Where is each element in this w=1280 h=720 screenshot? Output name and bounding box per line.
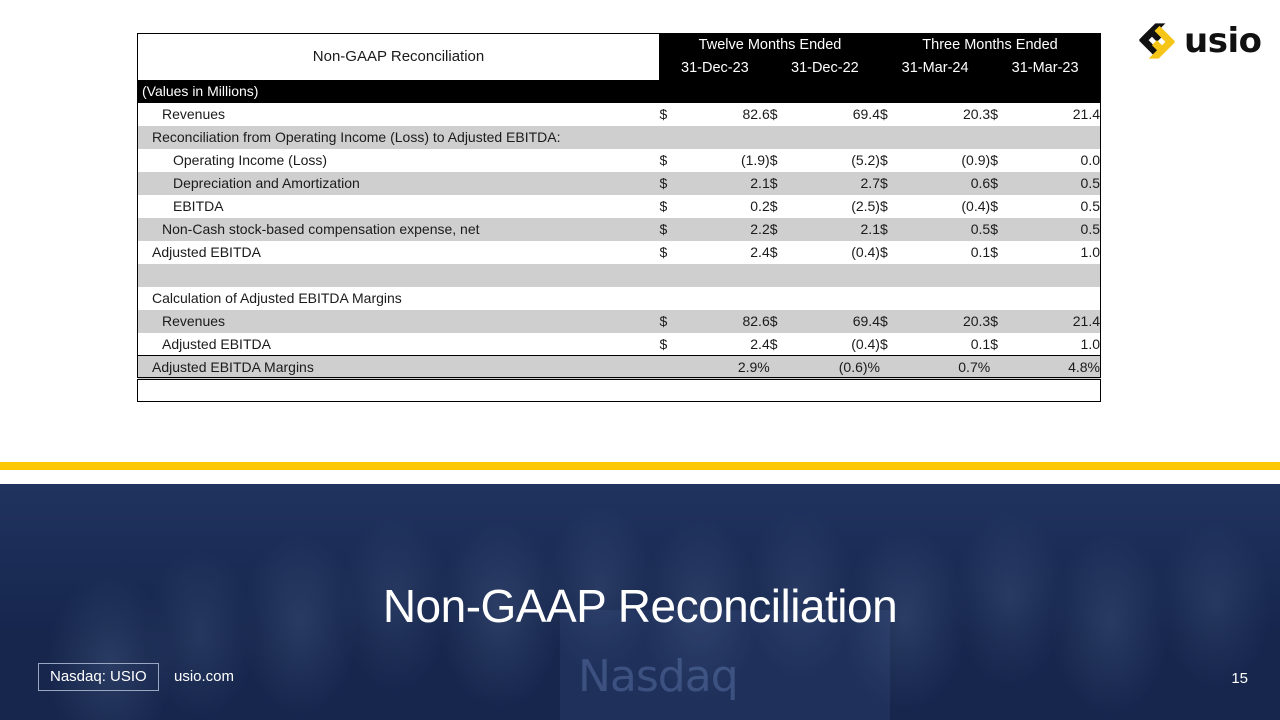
currency-symbol-c1: $: [660, 310, 686, 333]
cell-value-c2: (5.2): [796, 149, 880, 172]
currency-symbol-c4: $: [990, 218, 1016, 241]
currency-symbol-c2: $: [770, 172, 796, 195]
currency-symbol-c3: $: [880, 149, 906, 172]
cell-value-c1: [686, 264, 770, 287]
podium-nasdaq-text: Nasdaq: [578, 651, 738, 702]
cell-value-c1: 2.1: [686, 172, 770, 195]
table-row: Non-Cash stock-based compensation expens…: [138, 218, 1101, 241]
currency-symbol-c4: [990, 126, 1016, 149]
row-label: Reconciliation from Operating Income (Lo…: [138, 126, 660, 149]
currency-symbol-c4: $: [990, 310, 1016, 333]
currency-symbol-c2: $: [770, 218, 796, 241]
cell-value-c3: 0.6: [906, 172, 990, 195]
row-label: [138, 264, 660, 287]
cell-value-c3: 0.5: [906, 218, 990, 241]
cell-value-c2: (0.4): [796, 241, 880, 264]
currency-symbol-c1: $: [660, 103, 686, 126]
cell-value-c3: 0.1: [906, 333, 990, 356]
column-group-header-2: Three Months Ended: [880, 34, 1101, 57]
currency-symbol-c4: [990, 356, 1016, 379]
table-row: Depreciation and Amortization$2.1$2.7$0.…: [138, 172, 1101, 195]
cell-value-c4: 4.8%: [1016, 356, 1100, 379]
table-row: [138, 264, 1101, 287]
cell-value-c3: [906, 126, 990, 149]
cell-value-c4: [1016, 287, 1100, 310]
currency-symbol-c2: $: [770, 149, 796, 172]
currency-symbol-c1: $: [660, 218, 686, 241]
currency-symbol-c3: [880, 264, 906, 287]
cell-value-c3: (0.4): [906, 195, 990, 218]
currency-symbol-c3: $: [880, 172, 906, 195]
period-header-3: 31-Mar-24: [880, 57, 990, 80]
non-gaap-reconciliation-table: Non-GAAP ReconciliationTwelve Months End…: [137, 33, 1101, 402]
cell-value-c4: 0.0: [1016, 149, 1100, 172]
period-header-2: 31-Dec-22: [770, 57, 880, 80]
row-label: Adjusted EBITDA: [138, 241, 660, 264]
currency-symbol-c3: [880, 356, 906, 379]
cell-value-c4: [1016, 264, 1100, 287]
currency-symbol-c2: [770, 264, 796, 287]
cell-value-c1: 2.2: [686, 218, 770, 241]
cell-value-c3: 20.3: [906, 310, 990, 333]
table-header-group-row: Non-GAAP ReconciliationTwelve Months End…: [138, 34, 1101, 57]
currency-symbol-c4: $: [990, 172, 1016, 195]
table-row: Operating Income (Loss)$(1.9)$(5.2)$(0.9…: [138, 149, 1101, 172]
currency-symbol-c2: [770, 356, 796, 379]
currency-symbol-c2: [770, 126, 796, 149]
currency-symbol-c3: $: [880, 310, 906, 333]
currency-symbol-c3: $: [880, 103, 906, 126]
cell-value-c2: 69.4: [796, 310, 880, 333]
cell-value-c4: 0.5: [1016, 195, 1100, 218]
row-label: Adjusted EBITDA: [138, 333, 660, 356]
cell-value-c1: [686, 126, 770, 149]
cell-value-c1: 0.2: [686, 195, 770, 218]
currency-symbol-c3: $: [880, 333, 906, 356]
usio-diamond-mark: [1136, 20, 1178, 62]
cell-value-c1: 82.6: [686, 103, 770, 126]
cell-value-c3: 20.3: [906, 103, 990, 126]
currency-symbol-c4: [990, 264, 1016, 287]
currency-symbol-c1: [660, 264, 686, 287]
yellow-divider-rule: [0, 462, 1280, 470]
currency-symbol-c1: [660, 356, 686, 379]
table-row: Reconciliation from Operating Income (Lo…: [138, 126, 1101, 149]
cell-value-c3: [906, 264, 990, 287]
cell-value-c1: [686, 287, 770, 310]
currency-symbol-c4: $: [990, 195, 1016, 218]
row-label: Depreciation and Amortization: [138, 172, 660, 195]
non-gaap-table-container: Non-GAAP ReconciliationTwelve Months End…: [137, 33, 1101, 402]
units-band-row: (Values in Millions): [138, 80, 1101, 103]
cell-value-c2: 2.7: [796, 172, 880, 195]
currency-symbol-c1: $: [660, 172, 686, 195]
cell-value-c1: 2.9%: [686, 356, 770, 379]
usio-logo: usio: [1136, 20, 1261, 62]
row-label: Operating Income (Loss): [138, 149, 660, 172]
currency-symbol-c2: $: [770, 310, 796, 333]
currency-symbol-c2: $: [770, 103, 796, 126]
table-row: Adjusted EBITDA Margins2.9%(0.6)%0.7%4.8…: [138, 356, 1101, 379]
table-row: Revenues$82.6$69.4$20.3$21.4: [138, 103, 1101, 126]
table-bottom-spacer-row: [138, 379, 1101, 402]
currency-symbol-c3: [880, 287, 906, 310]
cell-value-c1: 2.4: [686, 241, 770, 264]
period-header-1: 31-Dec-23: [660, 57, 770, 80]
cell-value-c4: 0.5: [1016, 172, 1100, 195]
cell-value-c2: (0.4): [796, 333, 880, 356]
cell-value-c2: (2.5): [796, 195, 880, 218]
currency-symbol-c4: [990, 287, 1016, 310]
cell-value-c4: 21.4: [1016, 103, 1100, 126]
currency-symbol-c1: [660, 287, 686, 310]
currency-symbol-c3: [880, 126, 906, 149]
currency-symbol-c1: [660, 126, 686, 149]
cell-value-c2: 2.1: [796, 218, 880, 241]
row-label: Non-Cash stock-based compensation expens…: [138, 218, 660, 241]
row-label: EBITDA: [138, 195, 660, 218]
cell-value-c4: 0.5: [1016, 218, 1100, 241]
row-label: Revenues: [138, 310, 660, 333]
currency-symbol-c1: $: [660, 149, 686, 172]
currency-symbol-c3: $: [880, 195, 906, 218]
slide: usio Non-GAAP ReconciliationTwelve Month…: [0, 0, 1280, 720]
currency-symbol-c2: [770, 287, 796, 310]
cell-value-c1: (1.9): [686, 149, 770, 172]
currency-symbol-c1: $: [660, 241, 686, 264]
nasdaq-ticker-badge: Nasdaq: USIO: [38, 663, 159, 691]
row-label: Revenues: [138, 103, 660, 126]
cell-value-c4: [1016, 126, 1100, 149]
currency-symbol-c4: $: [990, 241, 1016, 264]
cell-value-c3: (0.9): [906, 149, 990, 172]
cell-value-c3: 0.1: [906, 241, 990, 264]
row-label: Adjusted EBITDA Margins: [138, 356, 660, 379]
website-url[interactable]: usio.com: [174, 668, 234, 685]
cell-value-c3: [906, 287, 990, 310]
cell-value-c2: [796, 126, 880, 149]
currency-symbol-c2: $: [770, 333, 796, 356]
units-label: (Values in Millions): [138, 80, 1101, 103]
row-label: Calculation of Adjusted EBITDA Margins: [138, 287, 660, 310]
slide-title: Non-GAAP Reconciliation: [0, 579, 1280, 633]
cell-value-c1: 2.4: [686, 333, 770, 356]
cell-value-c4: 1.0: [1016, 333, 1100, 356]
cell-value-c2: [796, 264, 880, 287]
currency-symbol-c4: $: [990, 103, 1016, 126]
cell-value-c4: 1.0: [1016, 241, 1100, 264]
currency-symbol-c4: $: [990, 333, 1016, 356]
table-row: EBITDA$0.2$(2.5)$(0.4)$0.5: [138, 195, 1101, 218]
currency-symbol-c4: $: [990, 149, 1016, 172]
currency-symbol-c3: $: [880, 241, 906, 264]
table-title: Non-GAAP Reconciliation: [138, 34, 660, 80]
currency-symbol-c2: $: [770, 241, 796, 264]
table-row: Calculation of Adjusted EBITDA Margins: [138, 287, 1101, 310]
logo-wordmark: usio: [1184, 24, 1261, 58]
table-bottom-spacer-cell: [138, 379, 1101, 402]
table-row: Revenues$82.6$69.4$20.3$21.4: [138, 310, 1101, 333]
currency-symbol-c2: $: [770, 195, 796, 218]
cell-value-c1: 82.6: [686, 310, 770, 333]
table-row: Adjusted EBITDA$2.4$(0.4)$0.1$1.0: [138, 333, 1101, 356]
table-row: Adjusted EBITDA$2.4$(0.4)$0.1$1.0: [138, 241, 1101, 264]
cell-value-c3: 0.7%: [906, 356, 990, 379]
currency-symbol-c1: $: [660, 333, 686, 356]
currency-symbol-c1: $: [660, 195, 686, 218]
cell-value-c2: 69.4: [796, 103, 880, 126]
period-header-4: 31-Mar-23: [990, 57, 1100, 80]
cell-value-c4: 21.4: [1016, 310, 1100, 333]
page-number: 15: [1231, 670, 1248, 687]
cell-value-c2: [796, 287, 880, 310]
currency-symbol-c3: $: [880, 218, 906, 241]
column-group-header-1: Twelve Months Ended: [660, 34, 880, 57]
cell-value-c2: (0.6)%: [796, 356, 880, 379]
